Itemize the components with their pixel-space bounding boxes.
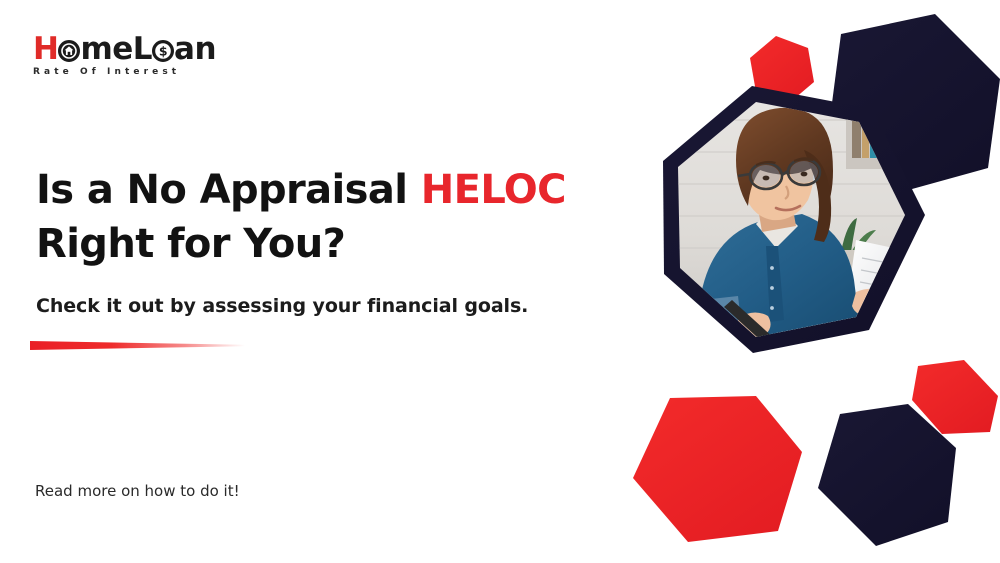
accent-rule-divider [30,341,245,350]
logo-wordmark: H meL $ an [33,33,223,65]
dollar-sign-icon: $ [152,40,174,62]
logo-letter-l: L [133,31,152,67]
promo-banner: H meL $ an Rate Of Interest Is a No Appr… [0,0,1000,563]
hero-artwork [560,0,1000,563]
headline-line-1-plain: Is a No Appraisal [36,167,421,213]
headline-line-1: Is a No Appraisal HELOC [36,163,596,217]
site-logo[interactable]: H meL $ an Rate Of Interest [33,33,223,85]
headline-accent-heloc: HELOC [421,167,566,213]
house-circle-icon [58,40,80,62]
logo-letter-h: H [33,31,58,67]
accent-rule-shape [30,341,245,350]
svg-text:$: $ [159,44,167,59]
logo-letters-an: an [174,31,216,67]
page-title: Is a No Appraisal HELOC Right for You? [36,163,596,271]
cta-read-more-text[interactable]: Read more on how to do it! [35,480,240,502]
logo-letters-me: me [80,31,132,67]
subheadline: Check it out by assessing your financial… [36,293,596,319]
large-red-hexagon-bottom-left [633,396,802,542]
headline-line-2: Right for You? [36,217,596,271]
logo-tagline: Rate Of Interest [33,66,223,78]
